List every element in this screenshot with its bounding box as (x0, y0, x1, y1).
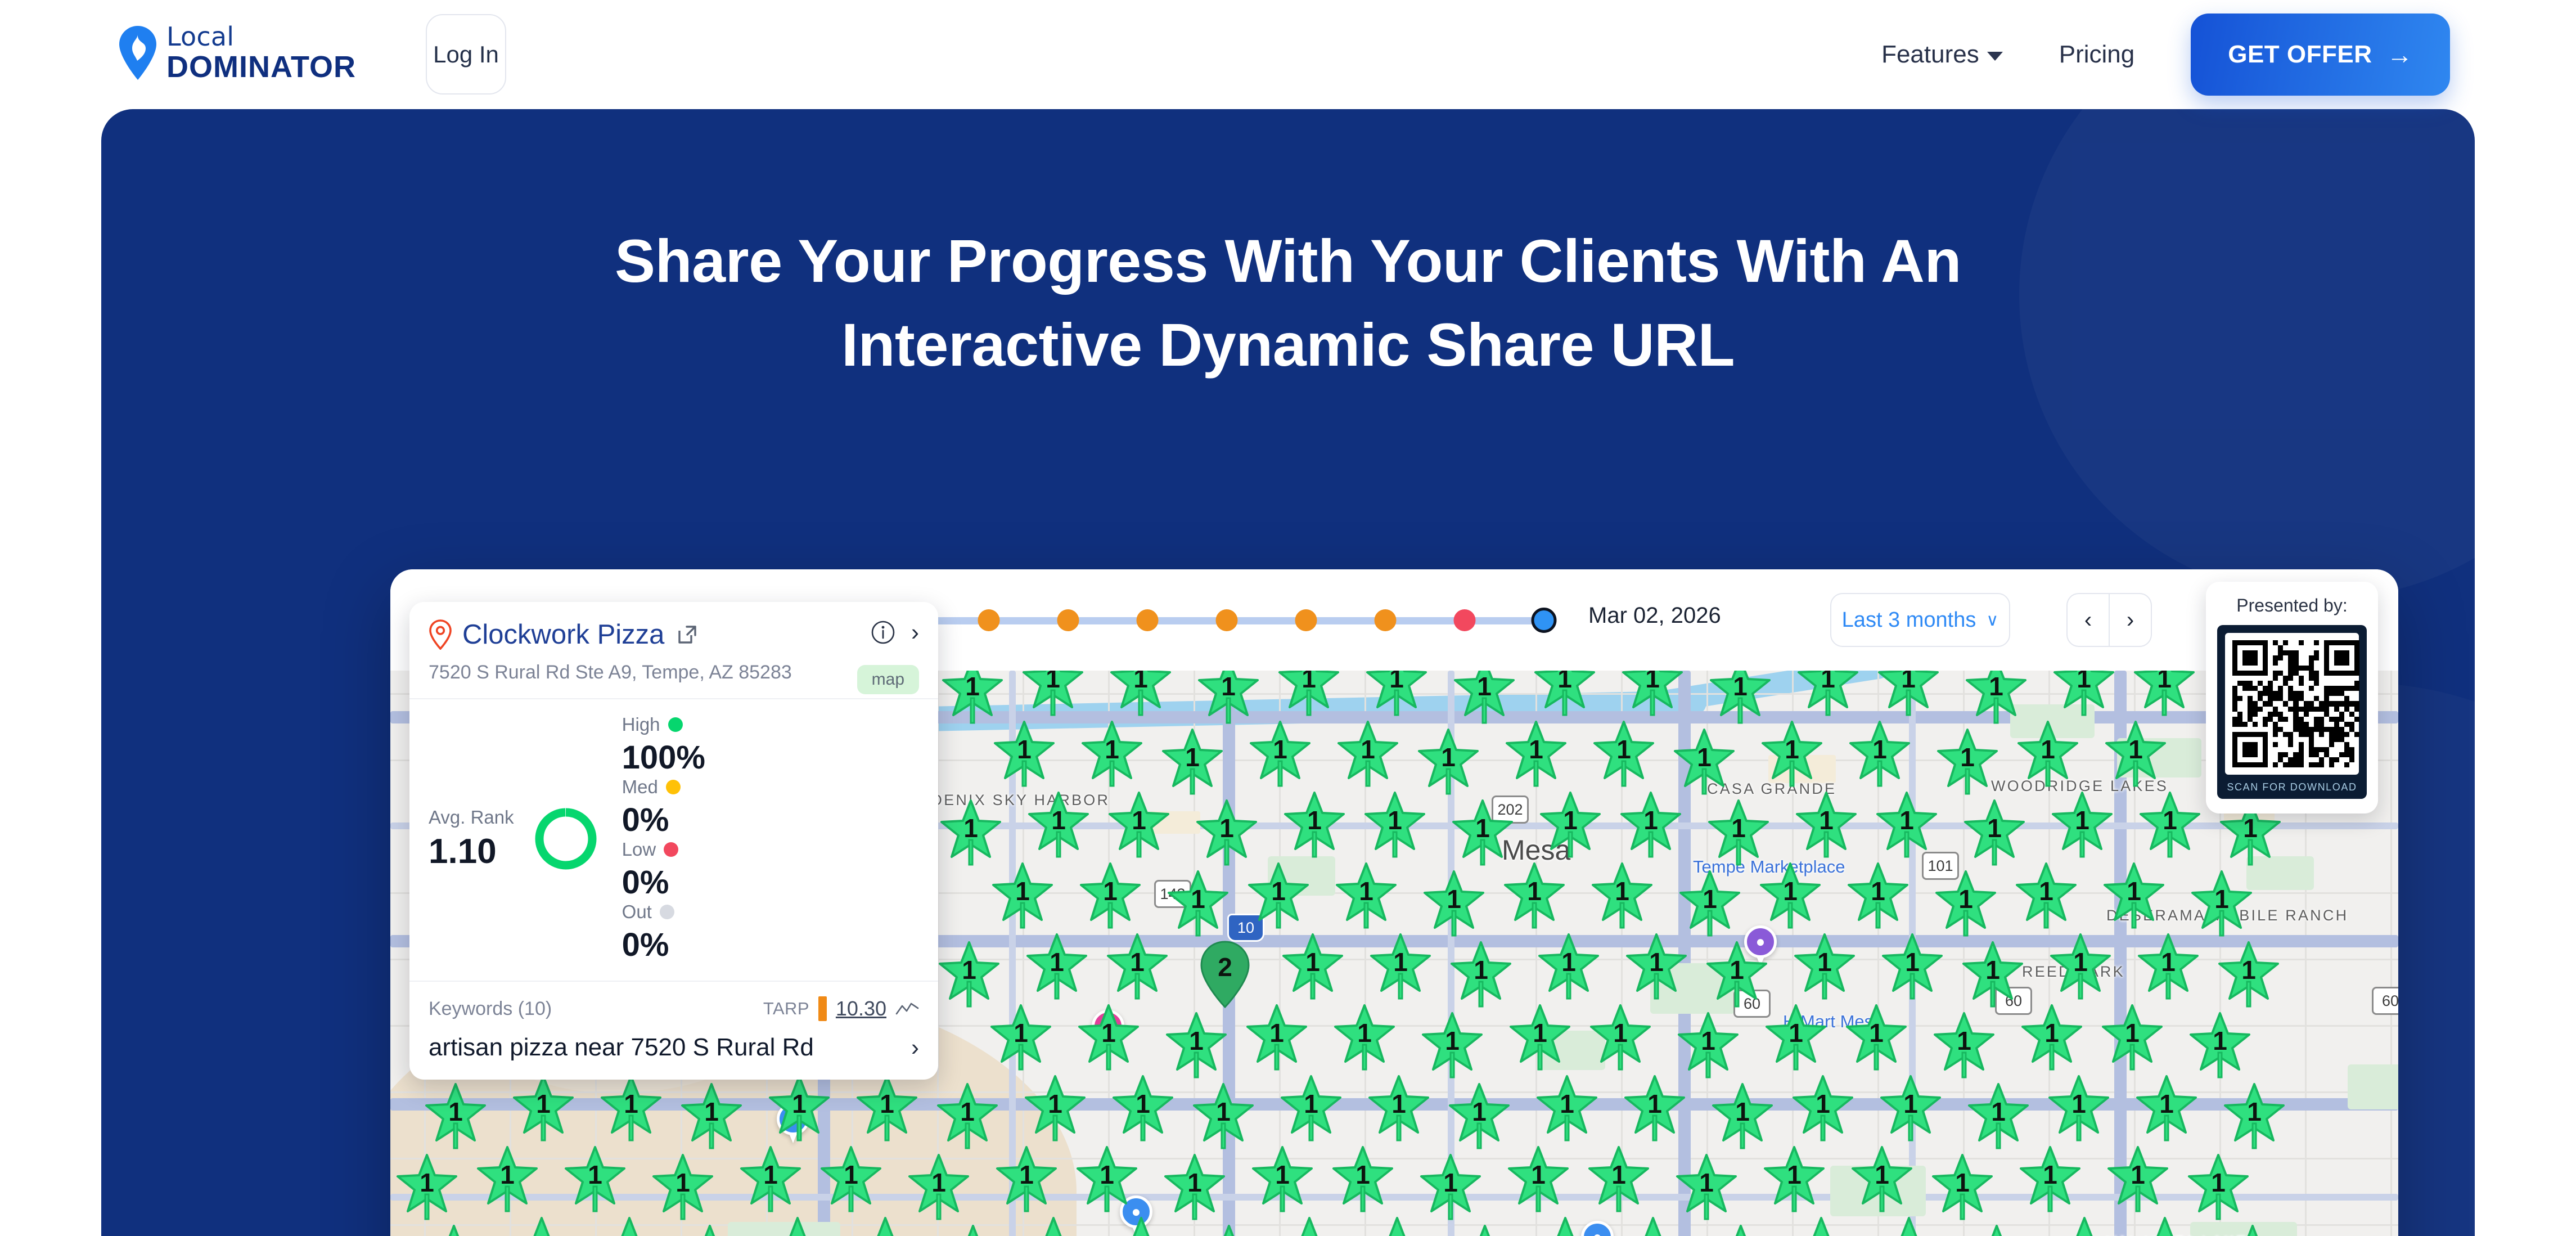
rank-marker-star[interactable]: 1 (1762, 1145, 1827, 1213)
rank-marker-star[interactable]: 1 (854, 1074, 920, 1143)
rank-marker-star[interactable]: 1 (1847, 720, 1912, 788)
timeline-dot[interactable] (1216, 609, 1238, 631)
rank-marker-value: 1 (1591, 736, 1656, 762)
qr-module (2319, 666, 2324, 671)
rank-marker-star[interactable]: 1 (2051, 671, 2116, 717)
qr-module (2248, 762, 2253, 767)
qr-module (2304, 671, 2309, 676)
rank-marker-star[interactable]: 1 (1758, 861, 1823, 930)
qr-module (2242, 732, 2248, 737)
rank-marker-star[interactable]: 1 (2046, 1074, 2111, 1143)
qr-module (2237, 752, 2242, 757)
qr-module (2299, 762, 2304, 767)
rank-marker-star[interactable]: 1 (1588, 1003, 1653, 1072)
rank-marker-star[interactable]: 1 (1160, 727, 1225, 796)
rank-marker-star[interactable]: 1 (2048, 932, 2113, 1001)
rank-marker-star[interactable]: 1 (1164, 1011, 1229, 1080)
logo-word-top: Local (166, 24, 356, 50)
qr-module (2248, 640, 2253, 645)
rank-marker-star[interactable]: 1 (1244, 1003, 1309, 1072)
rank-marker-star[interactable]: 1 (677, 1224, 742, 1236)
rank-marker-value: 1 (2222, 1099, 2287, 1125)
rank-marker-star[interactable]: 1 (1536, 932, 1601, 1001)
rank-marker-star[interactable]: 1 (1676, 1011, 1741, 1080)
qr-module (2309, 757, 2314, 762)
qr-module (2248, 686, 2253, 691)
rank-marker-star[interactable]: 1 (1624, 932, 1689, 1001)
rank-marker-star[interactable]: 1 (1282, 790, 1347, 859)
rank-marker-star[interactable]: 1 (1507, 1003, 1573, 1072)
rank-marker-star[interactable]: 1 (1109, 1216, 1174, 1236)
rank-marker-star[interactable]: 1 (1620, 671, 1685, 717)
rank-marker-star[interactable]: 1 (2216, 940, 2281, 1009)
rank-marker-star[interactable]: 1 (1106, 790, 1172, 859)
rank-marker-value: 1 (1194, 815, 1259, 841)
rank-marker-star[interactable]: 1 (1448, 940, 1514, 1009)
rank-marker-star[interactable]: 1 (853, 1216, 918, 1236)
qr-module (2354, 655, 2359, 660)
rank-marker-star[interactable]: 1 (1876, 1216, 1942, 1236)
qr-module (2339, 691, 2344, 696)
rank-marker-star[interactable]: 1 (1078, 861, 1143, 930)
rank-marker-star[interactable]: 1 (1447, 1082, 1512, 1150)
rank-marker-star[interactable]: 1 (1933, 869, 1998, 938)
rank-marker-star[interactable]: 1 (1710, 1082, 1775, 1150)
rank-marker-star[interactable]: 1 (1591, 720, 1656, 788)
qr-module (2258, 650, 2263, 655)
rank-marker-star[interactable]: 1 (1790, 1074, 1856, 1143)
rank-marker-star[interactable]: 1 (511, 1074, 576, 1143)
qr-module (2288, 722, 2293, 727)
info-circle-icon[interactable] (871, 620, 895, 645)
timeline-end-date: Mar 02, 2026 (1588, 603, 1721, 628)
qr-module (2273, 676, 2278, 681)
rank-marker-star[interactable]: 1 (1026, 790, 1091, 859)
qr-module (2283, 742, 2288, 747)
qr-module (2288, 762, 2293, 767)
rank-marker-star[interactable]: 1 (1704, 940, 1769, 1009)
qr-module (2232, 666, 2237, 671)
rank-marker-star[interactable]: 1 (597, 1216, 662, 1236)
rank-marker-star[interactable]: 1 (1849, 1145, 1915, 1213)
timeline-dot[interactable] (1454, 609, 1476, 631)
rank-breakdown-label: Out (622, 901, 652, 923)
rank-marker-star[interactable]: 1 (1194, 798, 1259, 867)
rank-marker-star[interactable]: 1 (1763, 1003, 1829, 1072)
qr-module (2273, 666, 2278, 671)
login-button[interactable]: Log In (426, 14, 506, 95)
rank-marker-pin[interactable]: 2 (1198, 940, 1252, 1009)
chevron-down-icon: ∨ (1986, 610, 1998, 630)
qr-module (2263, 742, 2268, 747)
rank-marker-star[interactable]: 1 (1364, 1216, 1430, 1236)
qr-module (2248, 737, 2253, 742)
qr-module (2283, 666, 2288, 671)
business-info-popup: Clockwork Pizza 7520 S Rural Rd Ste A9, … (409, 602, 938, 1080)
rank-marker-value: 1 (1416, 744, 1481, 770)
qr-module (2232, 645, 2237, 650)
rank-marker-star[interactable]: 1 (1964, 1224, 2029, 1236)
brand-logo[interactable]: Local DOMINATOR (119, 24, 356, 82)
qr-module (2319, 691, 2324, 696)
rank-marker-star[interactable]: 1 (1250, 1145, 1315, 1213)
rank-marker-star[interactable]: 1 (1672, 727, 1737, 796)
rank-marker-star[interactable]: 1 (1024, 932, 1089, 1001)
rank-marker-value: 1 (1763, 1020, 1829, 1046)
qr-module (2304, 691, 2309, 696)
rank-marker-star[interactable]: 1 (1960, 940, 2025, 1009)
qr-module (2349, 732, 2354, 737)
rank-marker-star[interactable]: 1 (1845, 861, 1911, 930)
qr-module (2339, 671, 2344, 676)
rank-marker-star[interactable]: 1 (1196, 1224, 1262, 1236)
timeline-dot[interactable] (978, 609, 1000, 631)
rank-marker-star[interactable]: 1 (2137, 790, 2203, 859)
qr-module (2278, 757, 2283, 762)
qr-module (2273, 691, 2278, 696)
timeline-dot-current[interactable] (1532, 608, 1557, 633)
rank-marker-star[interactable]: 1 (1368, 932, 1433, 1001)
rank-marker-star[interactable]: 1 (992, 720, 1057, 788)
rank-marker-star[interactable]: 1 (1792, 932, 1857, 1001)
qr-module (2334, 650, 2339, 655)
rank-marker-star[interactable]: 1 (1844, 1003, 1909, 1072)
chevron-left-icon: ‹ (2084, 608, 2092, 633)
rank-marker-value: 1 (1536, 949, 1601, 975)
rank-marker-star[interactable]: 1 (1935, 727, 2000, 796)
keyword-list-item[interactable]: artisan pizza near 7520 S Rural Rd › (429, 1033, 919, 1062)
rank-marker-star[interactable]: 1 (1759, 720, 1825, 788)
rank-marker-star[interactable]: 1 (2017, 1145, 2083, 1213)
qr-module (2354, 757, 2359, 762)
qr-module (2242, 645, 2248, 650)
rank-marker-star[interactable]: 1 (1880, 932, 1945, 1001)
rank-marker-star[interactable]: 1 (1280, 932, 1345, 1001)
rank-marker-star[interactable]: 1 (1021, 1216, 1086, 1236)
rank-marker-star[interactable]: 1 (509, 1216, 574, 1236)
qr-module (2319, 671, 2324, 676)
rank-marker-star[interactable]: 1 (2100, 1003, 2165, 1072)
rank-marker-value: 1 (1503, 736, 1569, 762)
rank-marker-star[interactable]: 1 (1506, 1145, 1571, 1213)
rank-marker-star[interactable]: 1 (767, 1074, 832, 1143)
rank-marker-star[interactable]: 1 (1196, 671, 1261, 725)
business-name[interactable]: Clockwork Pizza (462, 619, 664, 650)
rank-marker-star[interactable]: 1 (1620, 1216, 1686, 1236)
rank-marker-star[interactable]: 1 (1589, 861, 1655, 930)
qr-module (2319, 696, 2324, 701)
rank-marker-star[interactable]: 1 (1079, 720, 1145, 788)
qr-module (2253, 660, 2258, 666)
rank-marker-star[interactable]: 1 (1795, 671, 1861, 717)
rank-marker-value: 1 (1278, 1091, 1344, 1117)
date-range-value: Last 3 months (1842, 608, 1976, 632)
rank-marker-star[interactable]: 1 (598, 1074, 664, 1143)
timeline-dot[interactable] (1057, 609, 1079, 631)
qr-module (2344, 650, 2349, 655)
qr-module (2283, 727, 2288, 732)
rank-marker-star[interactable]: 1 (1418, 1153, 1483, 1221)
rank-marker-star[interactable]: 1 (1420, 1011, 1485, 1080)
rank-marker-value: 1 (1533, 1233, 1598, 1236)
rank-marker-star[interactable]: 1 (1503, 720, 1569, 788)
rank-marker-value: 1 (992, 736, 1057, 762)
qr-module (2263, 727, 2268, 732)
rank-marker-star[interactable]: 1 (1162, 1153, 1227, 1221)
nav-item-pricing[interactable]: Pricing (2059, 41, 2135, 69)
rank-marker-star[interactable]: 1 (1622, 1074, 1687, 1143)
rank-marker-star[interactable]: 1 (1532, 671, 1597, 717)
qr-module (2334, 696, 2339, 701)
rank-marker-star[interactable]: 1 (1452, 671, 1517, 725)
qr-module (2354, 686, 2359, 691)
get-offer-button[interactable]: GET OFFER → (2191, 14, 2450, 96)
qr-module (2309, 747, 2314, 752)
rank-marker-star[interactable]: 1 (1533, 1216, 1598, 1236)
rank-marker-star[interactable]: 1 (935, 1082, 1000, 1150)
rank-marker-star[interactable]: 1 (2187, 1011, 2253, 1080)
rank-marker-star[interactable]: 1 (2132, 671, 2197, 717)
qr-module (2283, 717, 2288, 722)
rank-marker-star[interactable]: 1 (2186, 1153, 2251, 1221)
qr-module (2334, 747, 2339, 752)
qr-module (2232, 650, 2237, 655)
qr-module (2258, 655, 2263, 660)
rank-marker-star[interactable]: 1 (2103, 720, 2168, 788)
rank-marker-value: 1 (1794, 807, 1859, 833)
rank-marker-star[interactable]: 1 (1586, 1145, 1651, 1213)
qr-module (2324, 691, 2329, 696)
rank-marker-star[interactable]: 1 (1023, 1074, 1088, 1143)
qr-module (2248, 732, 2253, 737)
rank-marker-value: 1 (2017, 1162, 2083, 1188)
tarp-indicator-bar (818, 996, 827, 1021)
rank-marker-star[interactable]: 1 (1931, 1011, 1997, 1080)
rank-marker-star[interactable]: 1 (1794, 790, 1859, 859)
qr-module (2253, 722, 2258, 727)
rank-marker-star[interactable]: 1 (1332, 1003, 1397, 1072)
rank-marker-star[interactable]: 1 (423, 1082, 488, 1150)
rank-marker-star[interactable]: 1 (1416, 727, 1481, 796)
rank-marker-star[interactable]: 1 (988, 1003, 1053, 1072)
qr-module (2253, 707, 2258, 712)
rank-marker-star[interactable]: 1 (1674, 1153, 1739, 1221)
rank-marker-star[interactable]: 1 (1191, 1082, 1256, 1150)
rank-marker-star[interactable]: 1 (679, 1082, 744, 1150)
nav-item-features[interactable]: Features (1881, 41, 2003, 69)
qr-module (2263, 747, 2268, 752)
qr-module (2339, 732, 2344, 737)
qr-module (2339, 752, 2344, 757)
rank-marker-value: 1 (1502, 878, 1567, 904)
rank-marker-star[interactable]: 1 (1677, 869, 1742, 938)
rank-marker-star[interactable]: 1 (394, 1153, 460, 1221)
rank-marker-star[interactable]: 1 (2050, 790, 2115, 859)
timeline-dot[interactable] (1137, 609, 1159, 631)
rank-marker-star[interactable]: 1 (2189, 869, 2254, 938)
rank-marker-star[interactable]: 1 (1930, 1153, 1995, 1221)
qr-module (2344, 732, 2349, 737)
rank-marker-star[interactable]: 1 (2136, 932, 2201, 1001)
rank-marker-star[interactable]: 1 (1366, 1074, 1431, 1143)
timeline-prev-button[interactable]: ‹ (2066, 593, 2109, 647)
rank-marker-star[interactable]: 1 (1276, 671, 1341, 717)
rank-marker-star[interactable]: 1 (990, 861, 1055, 930)
qr-module (2258, 717, 2263, 722)
rank-marker-star[interactable]: 1 (2220, 1224, 2285, 1236)
rank-marker-star[interactable]: 1 (1878, 1074, 1943, 1143)
rank-marker-star[interactable]: 1 (1246, 861, 1311, 930)
rank-marker-star[interactable]: 1 (1277, 1216, 1342, 1236)
rank-marker-star[interactable]: 1 (1966, 1082, 2031, 1150)
qr-module (2278, 722, 2283, 727)
rank-marker-star[interactable]: 1 (1502, 861, 1567, 930)
qr-module (2263, 691, 2268, 696)
rank-marker-star[interactable]: 1 (2015, 720, 2080, 788)
rank-marker-star[interactable]: 1 (1789, 1216, 1854, 1236)
qr-module (2263, 650, 2268, 655)
qr-module (2288, 712, 2293, 717)
qr-module (2324, 762, 2329, 767)
rank-marker-star[interactable]: 1 (1534, 1074, 1600, 1143)
rank-marker-star[interactable]: 1 (818, 1145, 884, 1213)
rank-marker-star[interactable]: 1 (938, 798, 1003, 867)
qr-module (2278, 696, 2283, 701)
qr-module (2314, 747, 2319, 752)
chevron-right-icon[interactable]: › (911, 1036, 919, 1059)
qr-module (2324, 701, 2329, 706)
rank-marker-star[interactable]: 1 (1165, 869, 1231, 938)
expand-business-chevron-icon[interactable]: › (911, 621, 919, 644)
rank-marker-star[interactable]: 1 (1362, 790, 1427, 859)
rank-breakdown-value: 0% (622, 864, 705, 901)
rank-marker-star[interactable]: 1 (2019, 1003, 2084, 1072)
qr-module (2283, 696, 2288, 701)
rank-marker-star[interactable]: 1 (2101, 861, 2167, 930)
timeline-dot[interactable] (1375, 609, 1397, 631)
rank-marker-star[interactable]: 1 (2014, 861, 2079, 930)
qr-module (2299, 660, 2304, 666)
rank-marker-star[interactable]: 1 (1962, 798, 2027, 867)
rank-marker-star[interactable]: 1 (1874, 790, 1939, 859)
rank-marker-star[interactable]: 1 (1706, 798, 1771, 867)
rank-marker-star[interactable]: 1 (1708, 671, 1773, 725)
qr-module (2319, 676, 2324, 681)
rank-marker-star[interactable]: 1 (1364, 671, 1429, 717)
rank-marker-star[interactable]: 1 (994, 1145, 1059, 1213)
rank-marker-star[interactable]: 1 (1076, 1003, 1141, 1072)
nav-item-features-label: Features (1881, 41, 1979, 69)
timeline-next-button[interactable]: › (2109, 593, 2152, 647)
rank-marker-star[interactable]: 1 (1876, 671, 1941, 717)
rank-marker-star[interactable]: 1 (475, 1145, 540, 1213)
rank-marker-value: 1 (1079, 736, 1145, 762)
qr-module (2268, 747, 2273, 752)
qr-module (2263, 666, 2268, 671)
rank-marker-star[interactable]: 1 (1020, 671, 1086, 717)
rank-marker-star[interactable]: 1 (2222, 1082, 2287, 1150)
qr-module (2232, 681, 2237, 686)
date-range-select[interactable]: Last 3 months ∨ (1830, 593, 2010, 647)
qr-module (2288, 757, 2293, 762)
rank-marker-star[interactable]: 1 (940, 671, 1005, 725)
qr-module (2319, 645, 2324, 650)
qr-module (2349, 650, 2354, 655)
map-view-badge[interactable]: map (857, 665, 919, 694)
rank-marker-star[interactable]: 1 (765, 1216, 830, 1236)
rank-marker-star[interactable]: 1 (2105, 1145, 2170, 1213)
rank-marker-star[interactable]: 1 (1963, 671, 2029, 725)
qr-module (2242, 696, 2248, 701)
rank-marker-star[interactable]: 1 (2134, 1074, 2199, 1143)
rank-marker-star[interactable]: 1 (1708, 1224, 1773, 1236)
qr-module (2314, 671, 2319, 676)
qr-module (2237, 757, 2242, 762)
rank-marker-value: 1 (2014, 878, 2079, 904)
rank-marker-star[interactable]: 1 (940, 1224, 1006, 1236)
qr-module (2319, 727, 2324, 732)
rank-marker-star[interactable]: 1 (1452, 1224, 1517, 1236)
rank-marker-value: 1 (1618, 807, 1683, 833)
rank-marker-star[interactable]: 1 (1421, 869, 1487, 938)
rank-marker-star[interactable]: 1 (906, 1153, 971, 1221)
rank-marker-star[interactable]: 1 (1074, 1145, 1140, 1213)
rank-marker-star[interactable]: 1 (2132, 1216, 2197, 1236)
qr-module (2344, 660, 2349, 666)
tarp-value[interactable]: 10.30 (836, 997, 886, 1021)
qr-module (2293, 681, 2298, 686)
timeline-dot[interactable] (1295, 609, 1317, 631)
rank-marker-star[interactable]: 1 (1330, 1145, 1395, 1213)
qr-module (2232, 742, 2237, 747)
qr-module (2278, 762, 2283, 767)
qr-module (2242, 752, 2248, 757)
qr-module (2344, 712, 2349, 717)
rank-marker-star[interactable]: 1 (1538, 790, 1603, 859)
rank-marker-star[interactable]: 1 (562, 1145, 628, 1213)
rank-marker-star[interactable]: 1 (1335, 720, 1400, 788)
rank-marker-star[interactable]: 1 (1110, 1074, 1176, 1143)
rank-marker-star[interactable]: 1 (1108, 671, 1173, 717)
qr-module (2263, 640, 2268, 645)
qr-module (2248, 691, 2253, 696)
rank-marker-star[interactable]: 1 (936, 940, 1002, 1009)
qr-code-modules (2232, 640, 2359, 767)
rank-marker-star[interactable]: 1 (1334, 861, 1399, 930)
qr-module (2242, 747, 2248, 752)
qr-module (2278, 671, 2283, 676)
qr-module (2258, 727, 2263, 732)
sparkline-icon[interactable] (895, 1000, 919, 1017)
rank-marker-star[interactable]: 1 (1278, 1074, 1344, 1143)
rank-marker-star[interactable]: 1 (2052, 1216, 2117, 1236)
rank-marker-star[interactable]: 1 (1248, 720, 1313, 788)
rank-marker-star[interactable]: 1 (1450, 798, 1515, 867)
rank-marker-star[interactable]: 1 (1105, 932, 1170, 1001)
rank-marker-star[interactable]: 1 (738, 1145, 803, 1213)
qr-module (2304, 660, 2309, 666)
rank-marker-star[interactable]: 1 (650, 1153, 715, 1221)
qr-module (2258, 707, 2263, 712)
qr-code-icon[interactable] (2225, 633, 2359, 775)
qr-module (2293, 686, 2298, 691)
rank-marker-star[interactable]: 1 (421, 1224, 487, 1236)
external-link-icon[interactable] (677, 624, 698, 645)
rank-marker-value: 1 (1191, 1099, 1256, 1125)
qr-module (2299, 712, 2304, 717)
rank-marker-star[interactable]: 1 (1618, 790, 1683, 859)
qr-module (2232, 757, 2237, 762)
